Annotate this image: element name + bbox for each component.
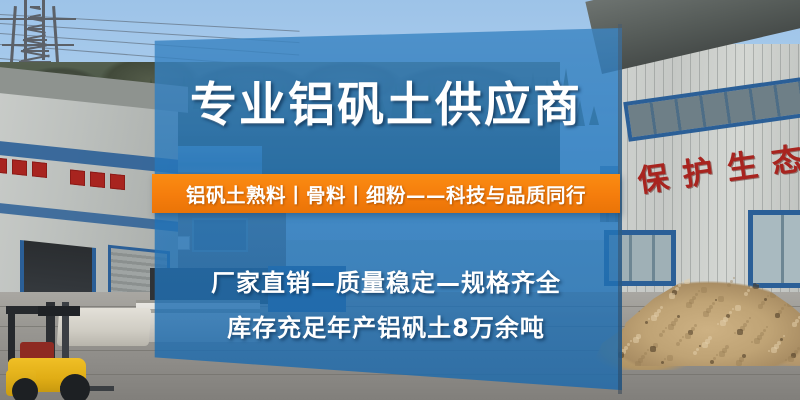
- factory-window-right: [748, 210, 800, 288]
- subline-2: 库存充足年产铝矾土8万余吨: [150, 308, 622, 343]
- headline-text: 专业铝矾土供应商: [150, 82, 622, 129]
- promo-banner-image: 保护生态 专业铝矾土供应商 铝矾土熟料丨骨料丨细粉——科技与: [0, 0, 800, 400]
- forklift-wheel-rear: [12, 378, 38, 400]
- ribbon-text: 铝矾土熟料丨骨料丨细粉——科技与品质同行: [186, 179, 586, 208]
- forklift-wheel-front: [60, 374, 90, 400]
- subline-1: 厂家直销—质量稳定—规格齐全: [150, 263, 622, 298]
- orange-ribbon-banner: 铝矾土熟料丨骨料丨细粉——科技与品质同行: [152, 174, 620, 213]
- yellow-forklift: [2, 302, 130, 398]
